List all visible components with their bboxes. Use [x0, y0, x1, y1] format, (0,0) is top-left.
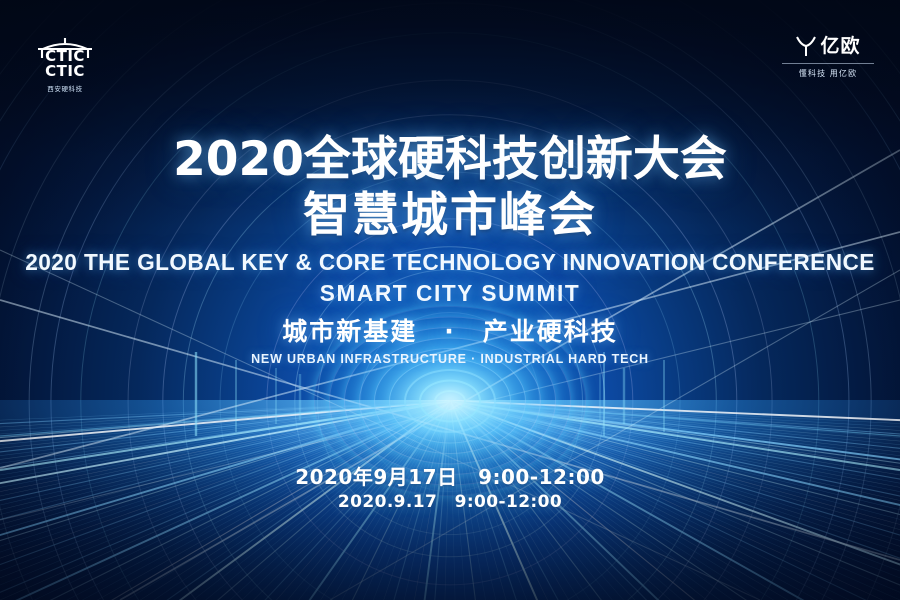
ctic-pagoda-mark: CTIC CTIC	[28, 36, 102, 80]
svg-text:CTIC: CTIC	[45, 62, 85, 80]
title-line-1: 2020全球硬科技创新大会	[0, 132, 900, 188]
datetime-chinese: 2020年9月17日 9:00-12:00	[0, 464, 900, 490]
english-subtitle: 2020 THE GLOBAL KEY & CORE TECHNOLOGY IN…	[0, 247, 900, 309]
subtitle-line-2: SMART CITY SUMMIT	[7, 278, 894, 309]
theme-english: NEW URBAN INFRASTRUCTURE · INDUSTRIAL HA…	[0, 352, 900, 366]
conference-poster: CTIC CTIC 西安硬科技 亿欧 懂科技 用亿欧 20	[0, 0, 900, 600]
event-datetime: 2020年9月17日 9:00-12:00 2020.9.17 9:00-12:…	[0, 464, 900, 514]
theme-chinese: 城市新基建 · 产业硬科技	[0, 316, 900, 348]
yiou-logo-text: 亿欧	[820, 37, 860, 56]
subtitle-line-1: 2020 THE GLOBAL KEY & CORE TECHNOLOGY IN…	[7, 247, 894, 278]
yiou-y-symbol-icon	[795, 34, 817, 58]
theme-slogan: 城市新基建 · 产业硬科技 NEW URBAN INFRASTRUCTURE ·…	[0, 316, 900, 366]
poster-content: CTIC CTIC 西安硬科技 亿欧 懂科技 用亿欧 20	[0, 0, 900, 600]
main-title: 2020全球硬科技创新大会 智慧城市峰会	[0, 132, 900, 244]
ctic-logo-subtitle: 西安硬科技	[22, 83, 108, 93]
title-line-2: 智慧城市峰会	[0, 188, 900, 244]
yiou-logo: 亿欧 懂科技 用亿欧	[778, 34, 878, 79]
yiou-logo-subtitle: 懂科技 用亿欧	[778, 68, 878, 79]
datetime-numeric: 2020.9.17 9:00-12:00	[0, 490, 900, 514]
yiou-logo-divider	[782, 63, 874, 64]
ctic-logo: CTIC CTIC 西安硬科技	[22, 36, 108, 93]
